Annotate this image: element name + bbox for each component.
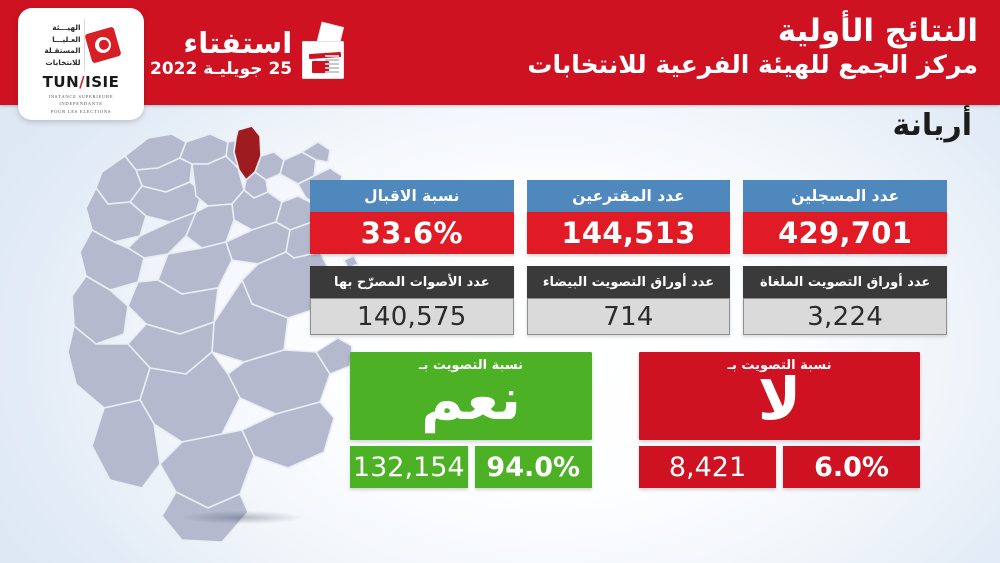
vote-main-yes: نسبة التصويت بـ نعم (350, 352, 592, 440)
stat-label-blank-ballots: عدد أوراق التصويت البيضاء (527, 266, 731, 298)
isie-logo-card: الهيـــئة العـليـــا المستقـلة للانتخابا… (18, 8, 144, 120)
vote-percent-yes: 94.0% (475, 446, 593, 488)
stat-value-voters: 144,513 (527, 212, 731, 254)
stat-value-valid-votes: 140,575 (310, 298, 514, 335)
vote-percent-no: 6.0% (783, 446, 920, 488)
vote-block-yes[interactable]: نسبة التصويت بـ نعم 94.0% 132,154 (350, 352, 592, 497)
logo-divider (84, 19, 85, 71)
stat-card-cancelled-ballots[interactable]: عدد أوراق التصويت الملغاة 3,224 (743, 266, 947, 335)
map-shadow (182, 511, 302, 524)
header-title-block: النتائج الأولية مركز الجمع للهيئة الفرعي… (527, 14, 978, 79)
logo-french-line-1: INSTANCE SUPERIEURE (49, 93, 114, 100)
logo-acronym-tun: TUN (43, 73, 79, 91)
referendum-date: 25 جويليـة 2022 (150, 61, 292, 78)
stat-value-blank-ballots: 714 (527, 298, 731, 335)
vote-sub-yes: 94.0% 132,154 (350, 446, 592, 488)
stat-card-valid-votes[interactable]: عدد الأصوات المصرّح بها 140,575 (310, 266, 514, 335)
vote-count-yes: 132,154 (350, 446, 468, 488)
stat-label-voters: عدد المقترعين (527, 180, 731, 212)
tunisia-flag-icon (84, 27, 121, 64)
vote-block-no[interactable]: نسبة التصويت بـ لا 6.0% 8,421 (639, 352, 920, 497)
referendum-word: استفتاء (150, 29, 292, 58)
ballot-box-icon (300, 27, 346, 79)
stats-grid: عدد المسجلين 429,701 عدد المقترعين 144,5… (310, 180, 947, 335)
vote-count-no: 8,421 (639, 446, 776, 488)
stats-row-secondary: عدد أوراق التصويت الملغاة 3,224 عدد أورا… (310, 266, 947, 335)
stats-row-primary: عدد المسجلين 429,701 عدد المقترعين 144,5… (310, 180, 947, 254)
vote-word-no: لا (639, 369, 920, 430)
stat-label-turnout: نسبة الاقبال (310, 180, 514, 212)
stat-card-turnout[interactable]: نسبة الاقبال 33.6% (310, 180, 514, 254)
logo-acronym-isie: ISIE (85, 73, 119, 91)
page-subtitle: مركز الجمع للهيئة الفرعية للانتخابات (527, 51, 978, 80)
stat-value-cancelled-ballots: 3,224 (743, 298, 947, 335)
logo-french-line-2: INDEPENDANTE (49, 100, 114, 107)
stat-label-registered: عدد المسجلين (743, 180, 947, 212)
vote-main-no: نسبة التصويت بـ لا (639, 352, 920, 440)
logo-acronym: TUN/ISIE (43, 75, 120, 90)
stat-label-cancelled-ballots: عدد أوراق التصويت الملغاة (743, 266, 947, 298)
header-bar: النتائج الأولية مركز الجمع للهيئة الفرعي… (0, 0, 1000, 105)
stat-label-valid-votes: عدد الأصوات المصرّح بها (310, 266, 514, 298)
stat-value-registered: 429,701 (743, 212, 947, 254)
referendum-badge: استفتاء 25 جويليـة 2022 (150, 20, 346, 86)
stat-card-blank-ballots[interactable]: عدد أوراق التصويت البيضاء 714 (527, 266, 731, 335)
vote-sub-no: 6.0% 8,421 (639, 446, 920, 488)
vote-results: نسبة التصويت بـ نعم 94.0% 132,154 نسبة ا… (350, 352, 920, 497)
stat-value-turnout: 33.6% (310, 212, 514, 254)
referendum-text: استفتاء 25 جويليـة 2022 (150, 29, 292, 78)
vote-word-yes: نعم (350, 369, 592, 430)
stat-card-registered[interactable]: عدد المسجلين 429,701 (743, 180, 947, 254)
logo-arabic-text: الهيـــئة العـليـــا المستقـلة للانتخابا… (44, 22, 80, 68)
page-title: النتائج الأولية (527, 14, 978, 49)
infographic-stage: النتائج الأولية مركز الجمع للهيئة الفرعي… (0, 0, 1000, 563)
stat-card-voters[interactable]: عدد المقترعين 144,513 (527, 180, 731, 254)
region-name: أريانة (892, 108, 972, 143)
